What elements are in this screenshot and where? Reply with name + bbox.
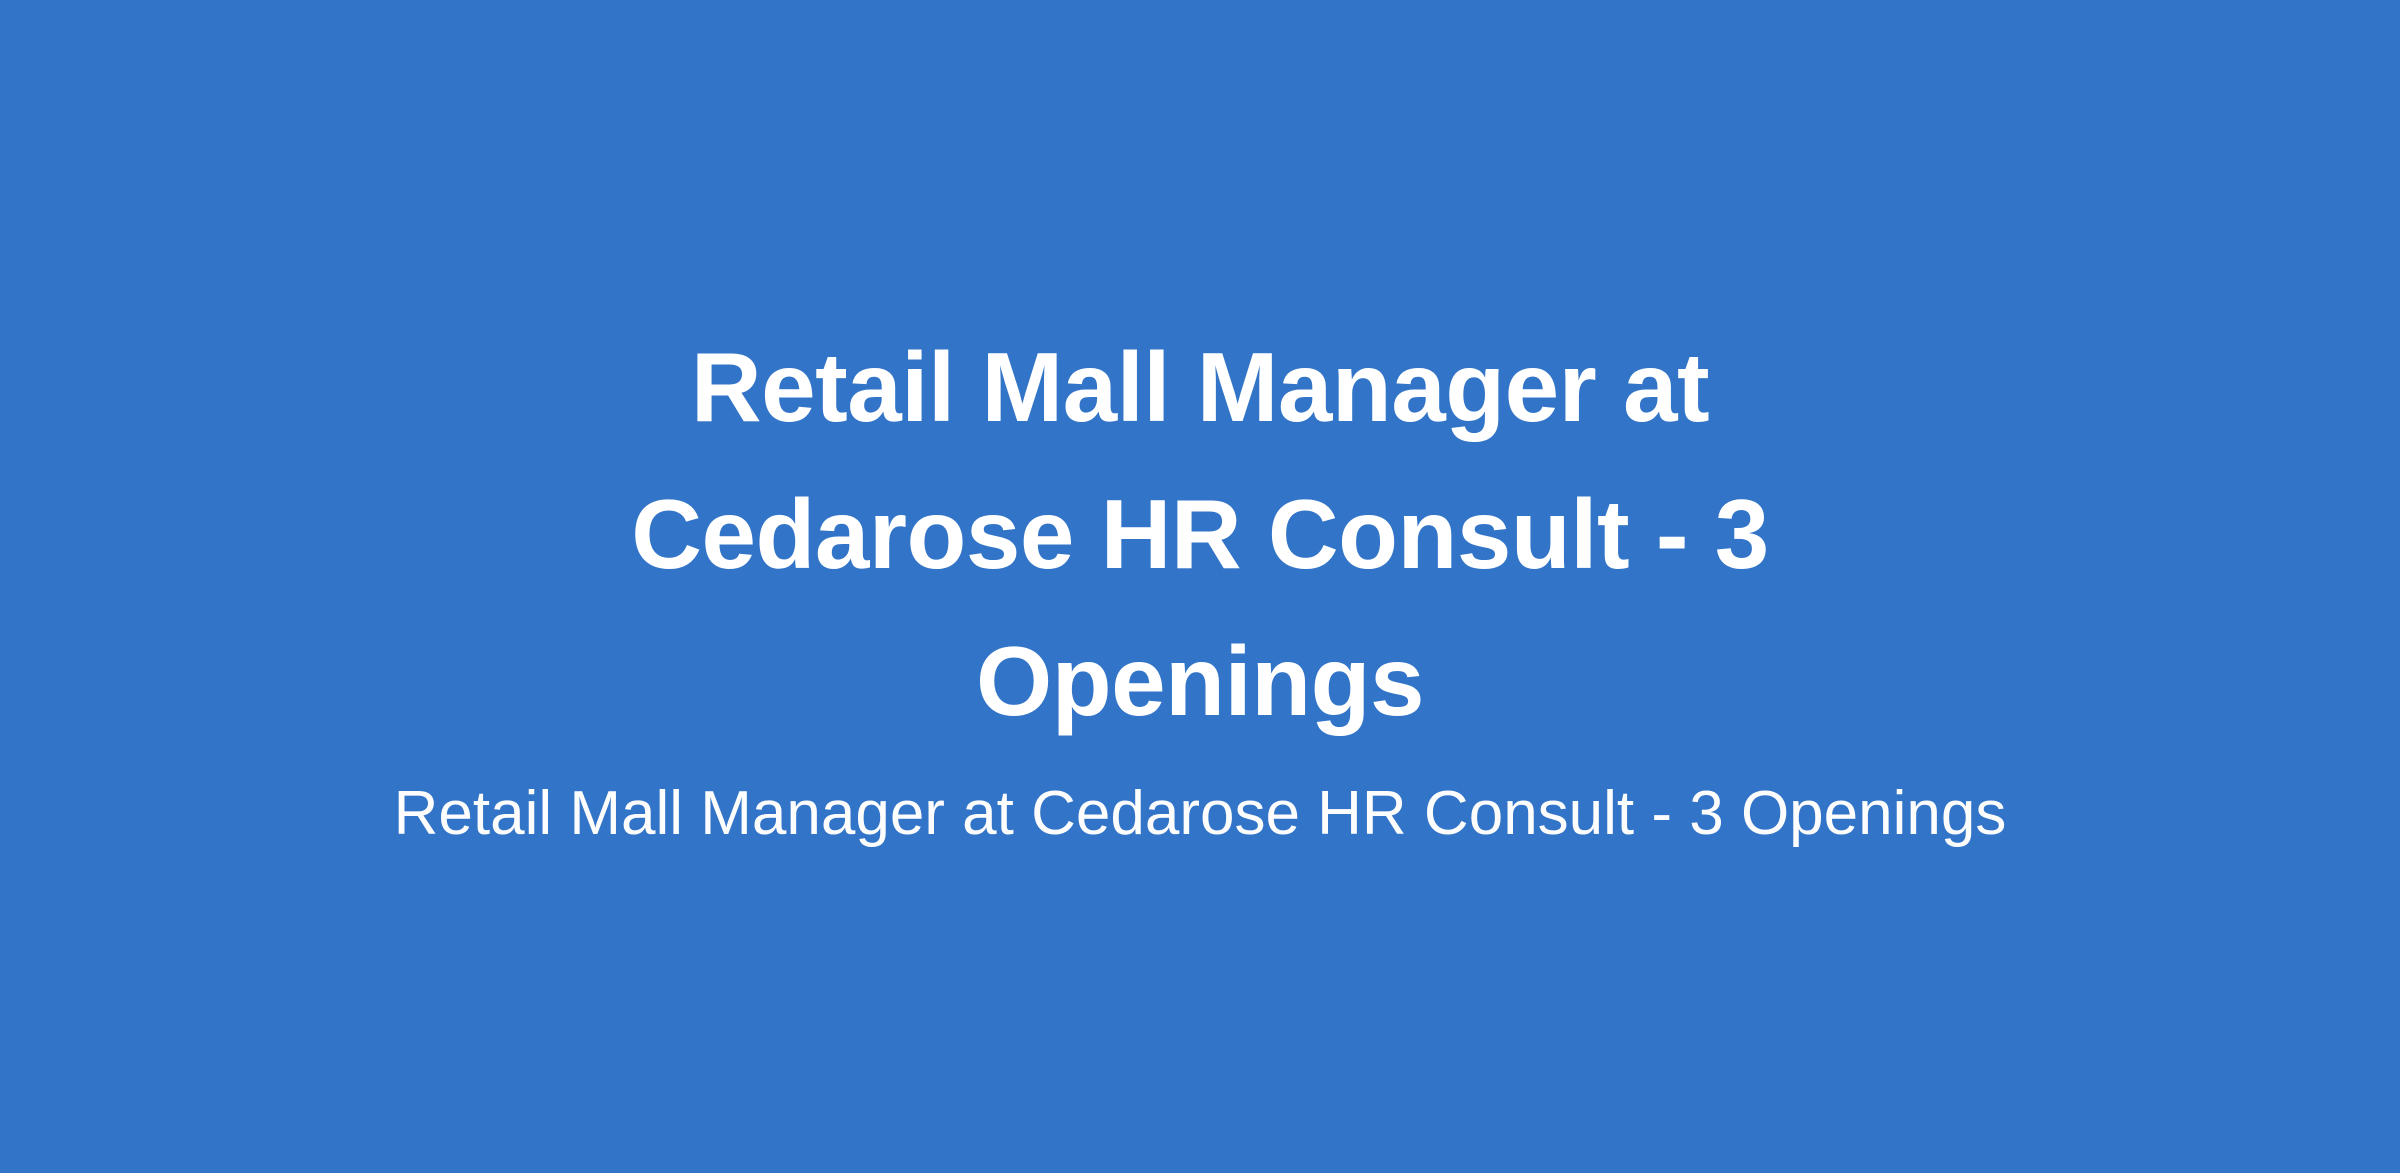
page-title: Retail Mall Manager at Cedarose HR Consu… [570, 314, 1830, 755]
social-share-card: Retail Mall Manager at Cedarose HR Consu… [0, 0, 2400, 1173]
card-content: Retail Mall Manager at Cedarose HR Consu… [570, 314, 1830, 859]
page-subtitle: Retail Mall Manager at Cedarose HR Consu… [350, 769, 2050, 859]
